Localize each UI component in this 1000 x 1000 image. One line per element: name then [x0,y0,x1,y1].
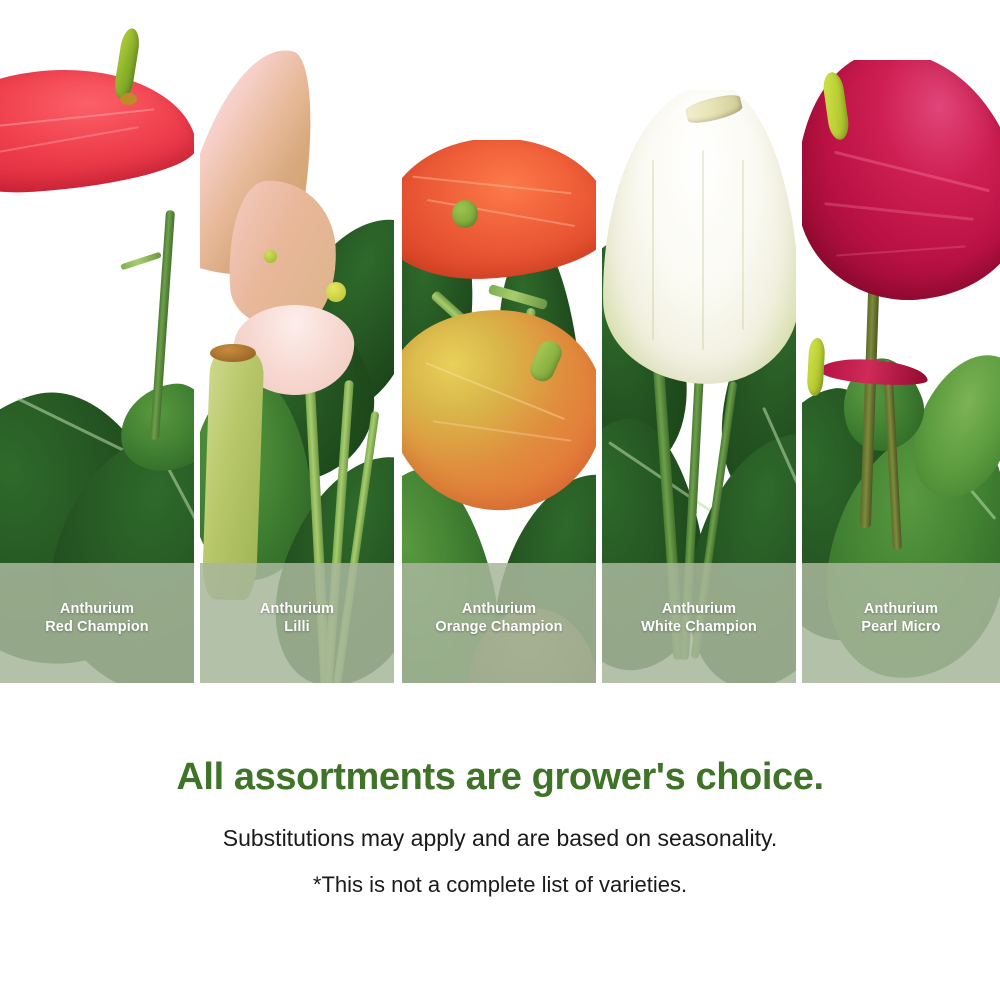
spadix [326,282,346,302]
variety-photo-red-champion [0,0,194,683]
spadix-base [120,93,137,105]
variety-label-red-champion: Anthurium Red Champion [0,600,194,636]
variety-cultivar: Pearl Micro [802,618,1000,636]
sheath [202,349,265,601]
variety-genus: Anthurium [200,600,394,618]
variety-panel-pearl-micro[interactable]: Anthurium Pearl Micro [802,60,1000,683]
side-stem [120,252,162,271]
variety-cultivar: Red Champion [0,618,194,636]
variety-cultivar: Orange Champion [402,618,596,636]
footer-copy: All assortments are grower's choice. Sub… [0,755,1000,898]
variety-panel-red-champion[interactable]: Anthurium Red Champion [0,0,194,683]
variety-cultivar: Lilli [200,618,394,636]
spadix [452,200,478,228]
product-variety-infographic: Anthurium Red Champion [0,0,1000,1000]
variety-genus: Anthurium [0,600,194,618]
spathe-petal [402,306,596,513]
variety-label-orange-champion: Anthurium Orange Champion [402,600,596,636]
variety-panel-lilli[interactable]: Anthurium Lilli [200,50,394,683]
spadix [264,250,277,263]
footer-headline: All assortments are grower's choice. [0,755,1000,799]
variety-label-lilli: Anthurium Lilli [200,600,394,636]
spathe-petal [602,90,796,386]
variety-genus: Anthurium [402,600,596,618]
spathe-vein [652,160,654,340]
variety-photo-white-champion [602,90,796,683]
variety-panel-strip: Anthurium Red Champion [0,0,1000,690]
spathe-petal [0,61,194,200]
variety-label-pearl-micro: Anthurium Pearl Micro [802,600,1000,636]
variety-genus: Anthurium [602,600,796,618]
variety-label-white-champion: Anthurium White Champion [602,600,796,636]
footer-disclaimer: *This is not a complete list of varietie… [0,872,1000,898]
spadix [806,338,825,397]
variety-panel-white-champion[interactable]: Anthurium White Champion [602,90,796,683]
variety-genus: Anthurium [802,600,1000,618]
variety-photo-lilli [200,50,394,683]
variety-cultivar: White Champion [602,618,796,636]
sheath-tip [210,344,256,362]
spathe-vein [742,160,744,330]
variety-panel-orange-champion[interactable]: Anthurium Orange Champion [402,140,596,683]
spathe-petal [819,356,928,387]
spathe-vein [702,150,704,350]
footer-subtitle: Substitutions may apply and are based on… [0,825,1000,852]
variety-photo-pearl-micro [802,60,1000,683]
